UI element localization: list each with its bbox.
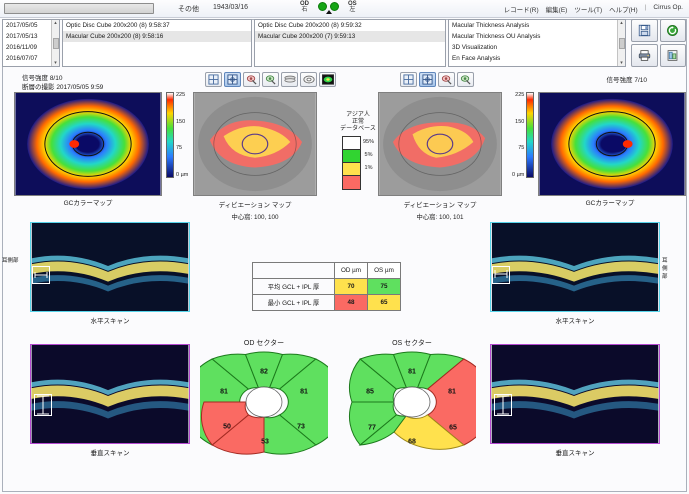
os-fovea-value: 100, 101 (439, 214, 464, 221)
scroll-down-icon[interactable]: ▾ (54, 60, 57, 66)
os-deviation-caption: ディビエーション マップ (378, 199, 502, 209)
gcl-ipl-summary-table: OD µm OS µm 平均 GCL + IPL 厚 70 75 最小 GCL … (252, 262, 401, 311)
od-sector-title: OD セクター (200, 338, 328, 348)
table-header-os: OS µm (368, 263, 401, 279)
od-sector-chart-block: OD セクター 82 81 81 7 (200, 338, 328, 455)
table-header-row: OD µm OS µm (253, 263, 401, 279)
menu-item-help[interactable]: ヘルプ(H) (609, 4, 638, 14)
legend-label-1: 1% (363, 162, 374, 175)
refresh-button[interactable] (660, 19, 687, 42)
eye-layers-icon[interactable] (457, 72, 474, 87)
ellipse-icon[interactable] (300, 72, 317, 87)
table-row: 最小 GCL + IPL 厚 48 65 (253, 295, 401, 311)
od-deviation-map[interactable] (193, 92, 317, 196)
od-deviation-map-block: ディビエーション マップ 中心窩: 100, 100 (193, 92, 317, 221)
os-deviation-map[interactable] (378, 92, 502, 196)
menu-bar: その他 1943/03/16 OD右 OS左 レコード(R) 編集(E) ツール… (0, 0, 689, 18)
crosshair-grid-icon[interactable] (224, 72, 241, 87)
os-vertical-bscan[interactable] (490, 344, 660, 444)
os-horizontal-bscan[interactable] (490, 222, 660, 312)
colormap-icon[interactable] (319, 72, 336, 87)
list-item[interactable]: 3D Visualization (449, 42, 625, 53)
os-signal-value: 7/10 (634, 77, 647, 84)
od-vertical-marker-icon (34, 394, 52, 416)
patient-dob: 1943/03/16 (213, 4, 248, 14)
list-item[interactable]: En Face Analysis (449, 53, 625, 64)
row-label-average: 平均 GCL + IPL 厚 (253, 279, 335, 295)
scroll-down-icon[interactable]: ▾ (620, 60, 623, 66)
od-bscan-side-label: 耳側部 (2, 256, 19, 264)
colorbar-tick: 0 µm (176, 172, 188, 178)
od-map-toolbar (205, 72, 336, 87)
scrollbar-thumb[interactable] (53, 38, 59, 49)
os-gc-color-map-block: 225 150 75 0 µm (512, 92, 686, 207)
colorbar-tick: 150 (176, 119, 188, 125)
colorbar-tick: 225 (515, 92, 524, 98)
od-signal-label: 信号強度 (22, 75, 48, 82)
os-signal-label: 信号強度 (607, 77, 633, 84)
os-gc-map-caption: GCカラーマップ (536, 197, 684, 207)
legend-bars (342, 136, 361, 190)
table-header-od: OD µm (335, 263, 368, 279)
table-corner-cell (253, 263, 335, 279)
eye-layers-icon[interactable] (262, 72, 279, 87)
crosshair-grid-icon[interactable] (419, 72, 436, 87)
os-sector-value-superonasal: 85 (366, 389, 374, 396)
os-deviation-map-block: ディビエーション マップ 中心窩: 100, 101 (378, 92, 502, 221)
legend-segment-abnormal (343, 176, 360, 189)
print-button[interactable] (631, 44, 658, 67)
od-indicator-label: OD右 (300, 1, 309, 13)
cirrus-oct-application: その他 1943/03/16 OD右 OS左 レコード(R) 編集(E) ツール… (0, 0, 689, 494)
od-fovea-value: 100, 100 (254, 214, 279, 221)
export-icon (666, 49, 679, 62)
grid-icon[interactable] (400, 72, 417, 87)
menu-item-edit[interactable]: 編集(E) (546, 4, 568, 14)
os-scan-list-panel[interactable]: Optic Disc Cube 200x200 (8) 9:59:32 Macu… (254, 19, 446, 67)
od-sector-value-inferior: 53 (261, 439, 269, 446)
od-gc-map-caption: GCカラーマップ (14, 197, 162, 207)
save-icon (638, 24, 651, 37)
legend-segment-1 (343, 163, 360, 176)
scrollbar-thumb[interactable] (619, 38, 625, 49)
list-item[interactable]: Macular Cube 200x200 (8) 9:58:16 (63, 31, 251, 42)
table-row: 平均 GCL + IPL 厚 70 75 (253, 279, 401, 295)
print-icon (638, 49, 651, 62)
os-bscan-marker-icon (492, 266, 510, 284)
os-sector-title: OS セクター (348, 338, 476, 348)
od-vertical-bscan-block: 垂直スキャン (30, 344, 190, 457)
legend-segment-95 (343, 137, 360, 150)
od-sector-value-superior: 82 (260, 369, 268, 376)
os-fovea-info: 中心窩: 100, 101 (378, 212, 502, 221)
os-colorbar (526, 92, 534, 178)
colorbar-tick: 75 (518, 145, 524, 151)
legend-labels: 95% 5% 1% (363, 136, 374, 190)
eye-pointer-icon[interactable] (438, 72, 455, 87)
average-od-value: 70 (335, 279, 368, 295)
os-sector-value-inferior: 68 (408, 439, 416, 446)
eye-indicator: OD右 OS左 (300, 1, 357, 13)
refresh-icon (666, 24, 679, 37)
scroll-up-icon[interactable]: ▴ (620, 20, 623, 26)
menu-items: レコード(R) 編集(E) ツール(T) ヘルプ(H) | Cirrus Op. (504, 4, 683, 14)
os-vertical-bscan-block: 垂直スキャン (490, 344, 660, 457)
app-name-label: Cirrus Op. (653, 4, 683, 14)
row-label-minimum: 最小 GCL + IPL 厚 (253, 295, 335, 311)
od-vertical-bscan-caption: 垂直スキャン (30, 447, 190, 457)
record-panels: 2017/05/05 2017/05/13 2016/11/09 2016/07… (2, 19, 628, 67)
os-indicator-label: OS左 (348, 1, 357, 13)
legend-label-5: 5% (363, 149, 374, 162)
list-item[interactable]: Macular Cube 200x200 (7) 9:59:13 (255, 31, 445, 42)
os-vertical-bscan-caption: 垂直スキャン (490, 447, 660, 457)
eye-pointer-icon[interactable] (243, 72, 260, 87)
od-bscan-marker-icon (32, 266, 50, 284)
minimum-os-value: 65 (368, 295, 401, 311)
analysis-list-scrollbar[interactable]: ▴ ▾ (617, 20, 625, 66)
os-horizontal-bscan-block: 水平スキャン 耳側部 (490, 222, 660, 325)
save-button[interactable] (631, 19, 658, 42)
od-sector-value-inferotemporal: 73 (297, 424, 305, 431)
menu-item-record[interactable]: レコード(R) (504, 4, 539, 14)
patient-name-field[interactable] (4, 3, 154, 14)
menu-separator: | (645, 4, 647, 14)
os-fovea-label: 中心窩 (417, 214, 436, 221)
analysis-list-panel[interactable]: Macular Thickness Analysis Macular Thick… (448, 19, 626, 67)
od-colorbar (166, 92, 174, 178)
minimum-od-value: 48 (335, 295, 368, 311)
grid-icon[interactable] (205, 72, 222, 87)
average-os-value: 75 (368, 279, 401, 295)
colorbar-tick: 75 (176, 145, 188, 151)
od-sector-value-superotemporal: 81 (300, 389, 308, 396)
od-scan-list-panel[interactable]: Optic Disc Cube 200x200 (8) 9:58:37 Macu… (62, 19, 252, 67)
od-sector-value-superonasal: 81 (220, 389, 228, 396)
od-scan-datetime: 2017/05/05 9:59 (56, 84, 103, 91)
other-label: その他 (178, 4, 199, 14)
os-sector-value-inferotemporal: 65 (449, 425, 457, 432)
scan-quality-dots (312, 2, 345, 13)
date-list-panel[interactable]: 2017/05/05 2017/05/13 2016/11/09 2016/07… (2, 19, 60, 67)
od-horizontal-bscan-block: 水平スキャン 耳側部 (30, 222, 190, 325)
od-sector-value-inferonasal: 50 (223, 424, 231, 431)
list-item[interactable]: Macular Thickness OU Analysis (449, 31, 625, 42)
os-sector-value-superotemporal: 81 (448, 389, 456, 396)
os-signal-info: 信号強度 7/10 (607, 74, 647, 84)
export-button[interactable] (660, 44, 687, 67)
list-item[interactable]: Optic Disc Cube 200x200 (8) 9:59:32 (255, 20, 445, 31)
od-horizontal-bscan[interactable] (30, 222, 190, 312)
od-fovea-info: 中心窩: 100, 100 (193, 212, 317, 221)
od-signal-info: 信号強度 8/10 断層の撮影 2017/05/05 9:59 (22, 74, 103, 92)
menu-item-tools[interactable]: ツール(T) (574, 4, 602, 14)
selection-pointer-icon (326, 10, 332, 14)
od-vertical-bscan[interactable] (30, 344, 190, 444)
od-gc-color-map-block: 225 150 75 0 µm GCカラーマップ (14, 92, 188, 207)
os-gc-color-map[interactable] (538, 92, 686, 196)
os-sector-chart-block: OS セクター 81 81 65 68 77 85 (348, 338, 476, 455)
os-sector-value-superior: 81 (408, 369, 416, 376)
od-horizontal-bscan-caption: 水平スキャン (30, 315, 190, 325)
od-scan-label: 断層の撮影 (22, 84, 55, 91)
list-item[interactable]: Optic Disc Cube 200x200 (8) 9:58:37 (63, 20, 251, 31)
os-bscan-side-label: 耳側部 (662, 256, 668, 280)
patient-info: その他 1943/03/16 (178, 4, 248, 14)
action-toolbar (631, 19, 686, 67)
od-signal-value: 8/10 (50, 75, 63, 82)
os-vertical-marker-icon (494, 394, 512, 416)
legend-label-95: 95% (363, 136, 374, 149)
date-list-scrollbar[interactable]: ▴ ▾ (51, 20, 59, 66)
colorbar-tick: 150 (515, 119, 524, 125)
colorbar-tick: 0 µm (512, 172, 524, 178)
os-sector-value-inferonasal: 77 (368, 425, 376, 432)
os-horizontal-bscan-caption: 水平スキャン (490, 315, 660, 325)
legend-segment-5 (343, 150, 360, 163)
scroll-up-icon[interactable]: ▴ (54, 20, 57, 26)
od-gc-color-map[interactable] (14, 92, 162, 196)
os-map-toolbar (400, 72, 474, 87)
od-fovea-label: 中心窩 (232, 214, 251, 221)
list-item[interactable]: Macular Thickness Analysis (449, 20, 625, 31)
colorbar-tick: 225 (176, 92, 188, 98)
od-deviation-caption: ディビエーション マップ (193, 199, 317, 209)
stack-icon[interactable] (281, 72, 298, 87)
